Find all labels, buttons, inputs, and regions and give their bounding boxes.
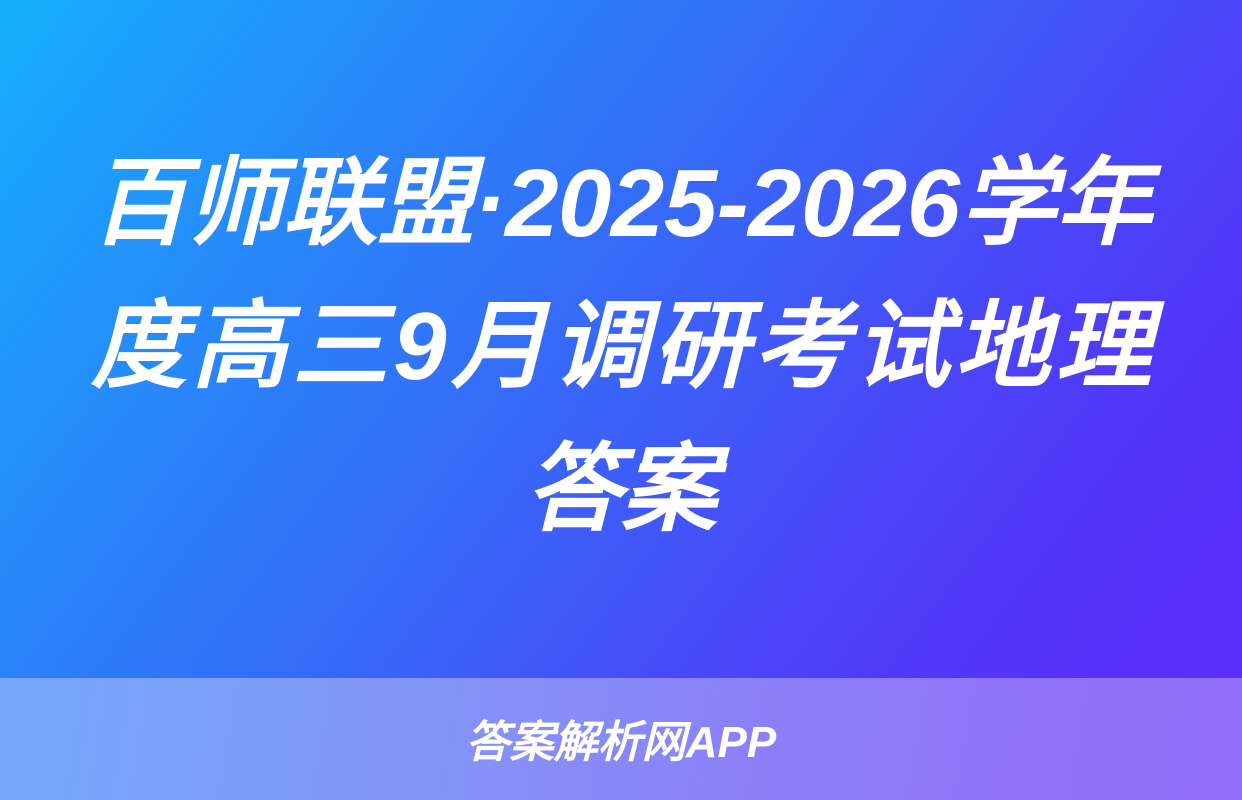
footer-band: 答案解析网APP — [0, 678, 1242, 800]
page-title: 百师联盟·2025-2026学年度高三9月调研考试地理答案 — [91, 132, 1151, 561]
watermark-app-label: 答案解析网APP — [466, 721, 776, 765]
title-block: 百师联盟·2025-2026学年度高三9月调研考试地理答案 — [0, 0, 1242, 678]
cover-card: 百师联盟·2025-2026学年度高三9月调研考试地理答案 答案解析网APP — [0, 0, 1242, 800]
